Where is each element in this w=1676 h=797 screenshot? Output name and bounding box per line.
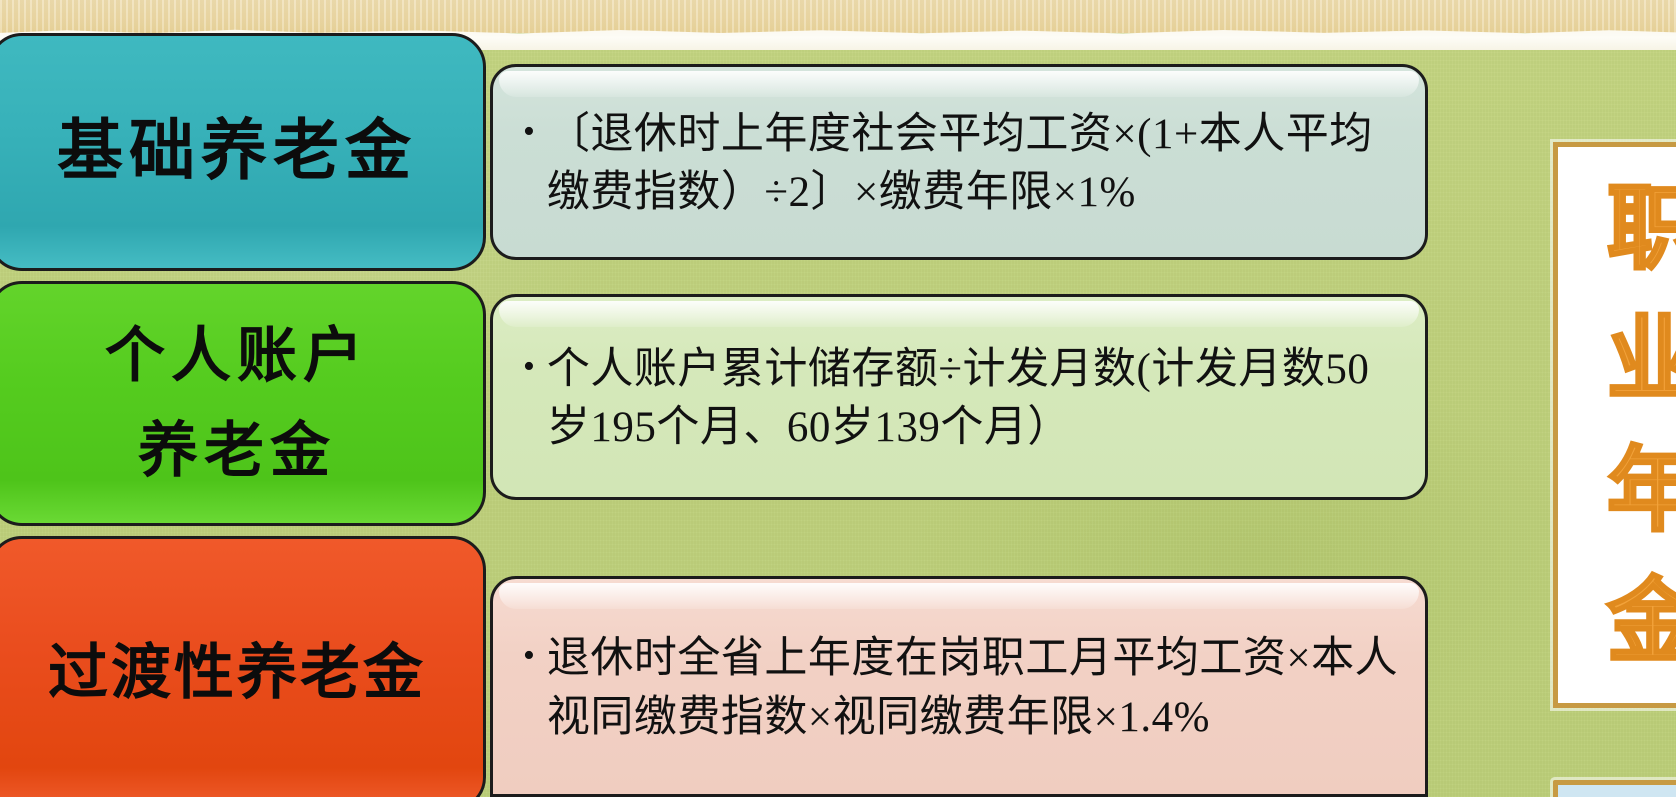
side-card-char-1: 职	[1607, 183, 1676, 275]
side-card-char-3: 年	[1607, 445, 1676, 537]
bullet-dot-icon: •	[523, 349, 535, 385]
content-panel-transitional-pension-inner: • 退休时全省上年度在岗职工月平均工资×本人视同缴费指数×视同缴费年限×1.4%	[523, 630, 1399, 746]
slide-canvas: 基础养老金 • 〔退休时上年度社会平均工资×(1+本人平均缴费指数）÷2〕×缴费…	[0, 0, 1676, 797]
bullet-dot-icon: •	[523, 638, 535, 674]
formula-text-basic-pension: 〔退休时上年度社会平均工资×(1+本人平均缴费指数）÷2〕×缴费年限×1%	[547, 106, 1399, 222]
bullet-item-transitional-pension: • 退休时全省上年度在岗职工月平均工资×本人视同缴费指数×视同缴费年限×1.4%	[523, 630, 1399, 746]
side-card-occupational-annuity[interactable]: 职 业 年 金	[1553, 142, 1676, 708]
side-card-char-2: 业	[1607, 314, 1676, 406]
label-chip-personal-account-pension-line-2: 养老金	[138, 416, 336, 487]
side-card-char-4: 金	[1607, 576, 1676, 668]
bullet-item-basic-pension: • 〔退休时上年度社会平均工资×(1+本人平均缴费指数）÷2〕×缴费年限×1%	[523, 106, 1399, 222]
content-panel-personal-account-pension-inner: • 个人账户累计储存额÷计发月数(计发月数50岁195个月、60岁139个月）	[523, 341, 1399, 457]
label-chip-personal-account-pension-line-1: 个人账户	[105, 321, 369, 392]
formula-text-transitional-pension: 退休时全省上年度在岗职工月平均工资×本人视同缴费指数×视同缴费年限×1.4%	[547, 630, 1399, 746]
bullet-item-personal-account-pension: • 个人账户累计储存额÷计发月数(计发月数50岁195个月、60岁139个月）	[523, 341, 1399, 457]
bullet-dot-icon: •	[523, 114, 535, 150]
formula-text-personal-account-pension: 个人账户累计储存额÷计发月数(计发月数50岁195个月、60岁139个月）	[547, 341, 1399, 457]
label-chip-basic-pension-line-1: 基础养老金	[57, 113, 417, 191]
label-chip-transitional-pension[interactable]: 过渡性养老金	[0, 536, 486, 797]
content-panel-basic-pension[interactable]: • 〔退休时上年度社会平均工资×(1+本人平均缴费指数）÷2〕×缴费年限×1%	[490, 64, 1428, 260]
content-panel-transitional-pension[interactable]: • 退休时全省上年度在岗职工月平均工资×本人视同缴费指数×视同缴费年限×1.4%	[490, 576, 1428, 797]
background-tan-band	[0, 0, 1676, 33]
content-panel-personal-account-pension[interactable]: • 个人账户累计储存额÷计发月数(计发月数50岁195个月、60岁139个月）	[490, 294, 1428, 500]
content-panel-basic-pension-inner: • 〔退休时上年度社会平均工资×(1+本人平均缴费指数）÷2〕×缴费年限×1%	[523, 106, 1399, 222]
label-chip-personal-account-pension[interactable]: 个人账户 养老金	[0, 281, 486, 526]
label-chip-basic-pension[interactable]: 基础养老金	[0, 33, 486, 271]
label-chip-transitional-pension-line-1: 过渡性养老金	[48, 638, 426, 709]
side-card-secondary[interactable]	[1553, 780, 1676, 797]
